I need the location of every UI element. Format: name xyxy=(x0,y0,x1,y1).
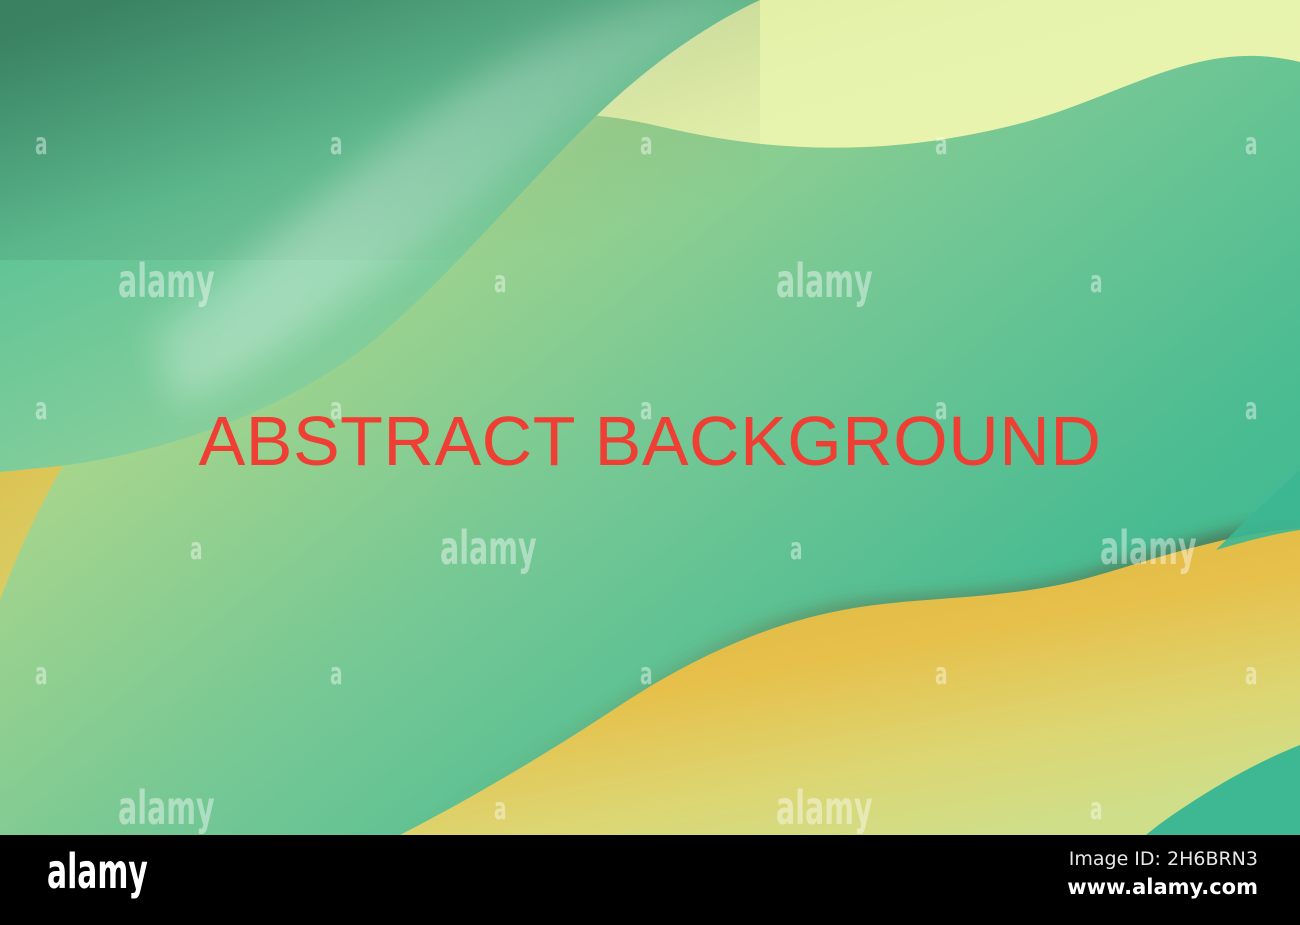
image-id-label: Image ID: 2H6BRN3 xyxy=(1067,847,1258,873)
alamy-footer-bar: alamy Image ID: 2H6BRN3 www.alamy.com xyxy=(0,835,1300,925)
alamy-logo[interactable]: alamy xyxy=(47,848,148,896)
page-title: ABSTRACT BACKGROUND xyxy=(0,406,1300,476)
footer-meta: Image ID: 2H6BRN3 www.alamy.com xyxy=(1067,847,1258,901)
corner-vignette xyxy=(0,0,760,260)
stock-photo-preview: ABSTRACT BACKGROUND a a a a a alamy a al… xyxy=(0,0,1300,925)
website-url[interactable]: www.alamy.com xyxy=(1067,873,1258,901)
